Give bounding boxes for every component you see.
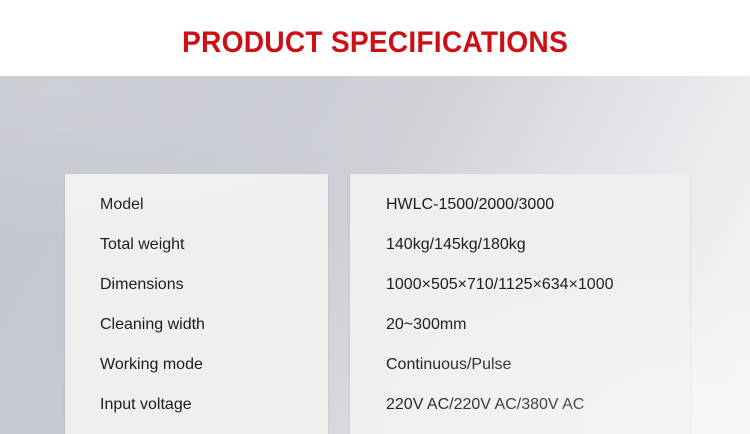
spec-label-row: Working mode	[65, 345, 328, 385]
spec-label-row: Model	[65, 185, 328, 225]
spec-label-row: Total weight	[65, 225, 328, 265]
spec-value-row: 20~300mm	[350, 305, 690, 345]
spec-value-row: 220V AC/220V AC/380V AC	[350, 385, 690, 425]
spec-label-row: Working temperature	[65, 425, 328, 434]
spec-value-row: HWLC-1500/2000/3000	[350, 185, 690, 225]
spec-value-row: 1000×505×710/1125×634×1000	[350, 265, 690, 305]
spec-label-list: Model Total weight Dimensions Cleaning w…	[65, 185, 328, 434]
spec-label-row: Cleaning width	[65, 305, 328, 345]
spec-value-row: 10~40℃	[350, 425, 690, 434]
header-band: PRODUCT SPECIFICATIONS	[0, 0, 750, 76]
spec-label-row: Input voltage	[65, 385, 328, 425]
spec-value-list: HWLC-1500/2000/3000 140kg/145kg/180kg 10…	[350, 185, 690, 434]
product-specifications-page: PRODUCT SPECIFICATIONS Model Total weigh…	[0, 0, 750, 434]
specifications-body: Model Total weight Dimensions Cleaning w…	[0, 76, 750, 434]
spec-value-card: HWLC-1500/2000/3000 140kg/145kg/180kg 10…	[350, 174, 690, 434]
spec-label-card: Model Total weight Dimensions Cleaning w…	[65, 174, 328, 434]
page-title: PRODUCT SPECIFICATIONS	[23, 26, 728, 60]
spec-value-row: 140kg/145kg/180kg	[350, 225, 690, 265]
spec-value-row: Continuous/Pulse	[350, 345, 690, 385]
spec-label-row: Dimensions	[65, 265, 328, 305]
